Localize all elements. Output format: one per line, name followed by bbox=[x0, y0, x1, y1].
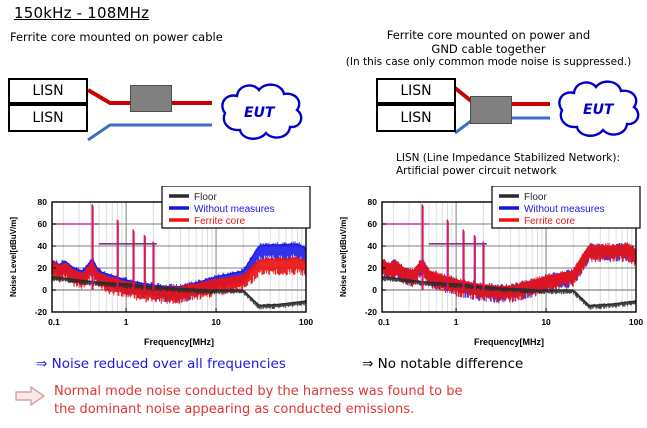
svg-text:60: 60 bbox=[368, 219, 378, 229]
right-lisn-bottom-label: LISN bbox=[400, 110, 431, 126]
left-conclusion: ⇒ Noise reduced over all frequencies bbox=[36, 356, 286, 372]
svg-text:100: 100 bbox=[629, 317, 643, 327]
right-lisn-box-bottom: LISN bbox=[376, 104, 456, 132]
right-arrow-icon bbox=[14, 385, 46, 407]
right-schematic: LISN LISN EUT bbox=[330, 0, 647, 160]
svg-text:0.1: 0.1 bbox=[48, 317, 60, 327]
svg-text:80: 80 bbox=[38, 197, 48, 207]
final-note-line1: Normal mode noise conducted by the harne… bbox=[54, 383, 462, 401]
chart-left-svg: -200204060800.1110100Frequency[MHz]Noise… bbox=[6, 186, 316, 348]
svg-text:Ferrite core: Ferrite core bbox=[524, 216, 576, 227]
left-lisn-box-top: LISN bbox=[8, 78, 88, 104]
chart-right: -200204060800.1110100Frequency[MHz]Noise… bbox=[336, 186, 646, 348]
svg-text:Noise Level[dBuV/m]: Noise Level[dBuV/m] bbox=[9, 217, 18, 297]
svg-text:-20: -20 bbox=[35, 307, 48, 317]
svg-text:20: 20 bbox=[368, 263, 378, 273]
svg-text:60: 60 bbox=[38, 219, 48, 229]
right-eut-label: EUT bbox=[583, 102, 613, 118]
final-note-text: Normal mode noise conducted by the harne… bbox=[54, 383, 462, 418]
svg-text:Without measures: Without measures bbox=[194, 204, 275, 215]
right-conclusion: ⇒ No notable difference bbox=[362, 356, 523, 372]
svg-text:0: 0 bbox=[42, 285, 47, 295]
lisn-note-line1: LISN (Line Impedance Stabilized Network)… bbox=[396, 152, 620, 165]
svg-text:1: 1 bbox=[454, 317, 459, 327]
left-lisn-top-label: LISN bbox=[32, 83, 63, 99]
right-ferrite-core-block bbox=[470, 96, 512, 124]
svg-text:20: 20 bbox=[38, 263, 48, 273]
final-note-line2: the dominant noise appearing as conducte… bbox=[54, 401, 462, 419]
svg-text:10: 10 bbox=[541, 317, 551, 327]
right-lisn-box-top: LISN bbox=[376, 78, 456, 104]
right-lisn-top-label: LISN bbox=[400, 83, 431, 99]
final-note: Normal mode noise conducted by the harne… bbox=[14, 383, 462, 418]
left-eut-label: EUT bbox=[244, 105, 274, 121]
svg-text:1: 1 bbox=[124, 317, 129, 327]
svg-text:0.1: 0.1 bbox=[378, 317, 390, 327]
left-lisn-box-bottom: LISN bbox=[8, 104, 88, 132]
svg-text:80: 80 bbox=[368, 197, 378, 207]
svg-text:Without measures: Without measures bbox=[524, 204, 605, 215]
slide-root: 150kHz - 108MHz Ferrite core mounted on … bbox=[0, 0, 647, 428]
chart-right-svg: -200204060800.1110100Frequency[MHz]Noise… bbox=[336, 186, 646, 348]
lisn-definition-note: LISN (Line Impedance Stabilized Network)… bbox=[396, 152, 620, 178]
svg-text:40: 40 bbox=[368, 241, 378, 251]
svg-text:Ferrite core: Ferrite core bbox=[194, 216, 246, 227]
left-ferrite-core-block bbox=[130, 85, 172, 112]
svg-text:0: 0 bbox=[372, 285, 377, 295]
svg-text:10: 10 bbox=[211, 317, 221, 327]
svg-text:Frequency[MHz]: Frequency[MHz] bbox=[474, 337, 544, 347]
left-lisn-bottom-label: LISN bbox=[32, 110, 63, 126]
svg-text:-20: -20 bbox=[365, 307, 378, 317]
svg-text:100: 100 bbox=[299, 317, 313, 327]
svg-text:40: 40 bbox=[38, 241, 48, 251]
svg-text:Floor: Floor bbox=[524, 192, 547, 203]
left-schematic: LISN LISN EUT bbox=[0, 0, 330, 160]
svg-text:Noise Level[dBuV/m]: Noise Level[dBuV/m] bbox=[339, 217, 348, 297]
lisn-note-line2: Artificial power circuit network bbox=[396, 165, 620, 178]
svg-text:Frequency[MHz]: Frequency[MHz] bbox=[144, 337, 214, 347]
svg-text:Floor: Floor bbox=[194, 192, 217, 203]
chart-left: -200204060800.1110100Frequency[MHz]Noise… bbox=[6, 186, 316, 348]
